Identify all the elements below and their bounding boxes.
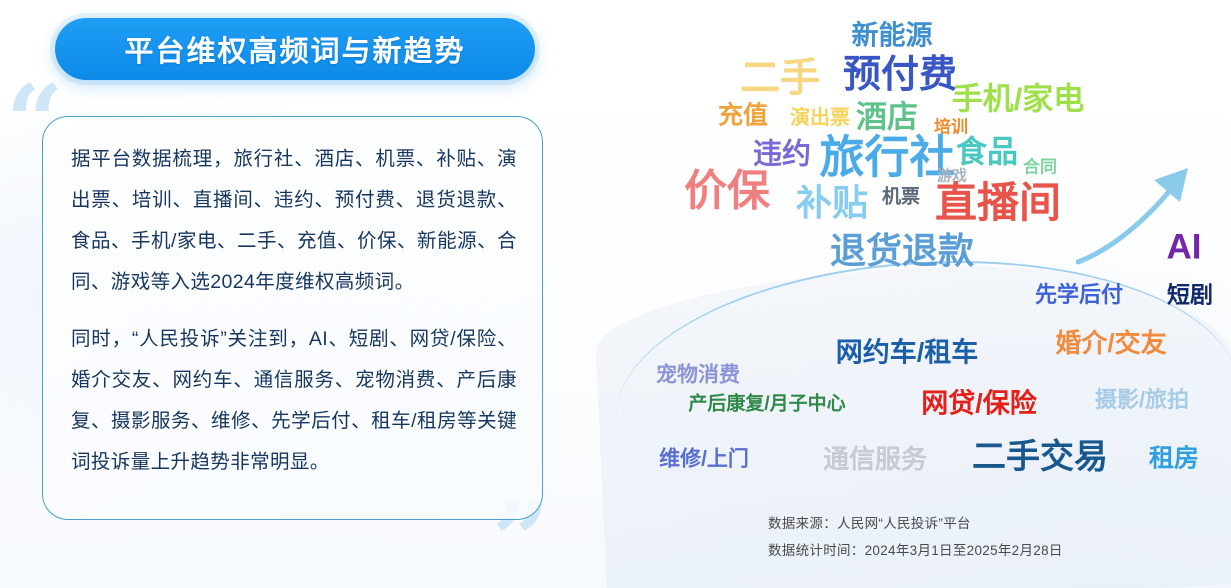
word-cloud-term: 直播间 xyxy=(935,182,1061,224)
footer-notes: 数据来源：人民网“人民投诉”平台 数据统计时间：2024年3月1日至2025年2… xyxy=(768,510,1188,564)
summary-paragraph-2: 同时，“人民投诉”关注到，AI、短剧、网贷/保险、婚介交友、网约车、通信服务、宠… xyxy=(71,319,517,483)
word-cloud-term: 补贴 xyxy=(796,185,868,221)
summary-paragraph-1: 据平台数据梳理，旅行社、酒店、机票、补贴、演出票、培训、直播间、违约、预付费、退… xyxy=(71,139,517,303)
word-cloud-term: 演出票 xyxy=(790,108,850,128)
word-cloud-term: 二手交易 xyxy=(972,440,1108,474)
word-cloud-term: 价保 xyxy=(684,171,770,214)
word-cloud-term: 网约车/租车 xyxy=(836,340,979,367)
word-cloud-term: 先学后付 xyxy=(1035,284,1123,306)
word-cloud-term: 短剧 xyxy=(1167,284,1213,307)
word-cloud-term: 网贷/保险 xyxy=(921,391,1037,418)
word-cloud: 新能源二手预付费手机/家电充值演出票酒店培训违约旅行社食品合同游戏价保补贴机票直… xyxy=(600,0,1231,588)
word-cloud-term: 违约 xyxy=(753,141,811,170)
word-cloud-term: 新能源 xyxy=(852,23,933,50)
word-cloud-term: 手机/家电 xyxy=(952,84,1085,115)
data-source-note: 数据来源：人民网“人民投诉”平台 xyxy=(768,510,1188,537)
left-panel: 平台维权高频词与新趋势 “ ” 据平台数据梳理，旅行社、酒店、机票、补贴、演出票… xyxy=(0,0,600,588)
word-cloud-term: 维修/上门 xyxy=(659,449,749,470)
word-cloud-term: 二手 xyxy=(740,58,820,98)
word-cloud-term: 摄影/旅拍 xyxy=(1095,389,1189,411)
word-cloud-term: AI xyxy=(1167,230,1202,265)
word-cloud-term: 机票 xyxy=(882,188,920,207)
page-title: 平台维权高频词与新趋势 xyxy=(124,28,465,70)
word-cloud-term: 充值 xyxy=(718,104,768,129)
word-cloud-term: 婚介/交友 xyxy=(1055,330,1166,356)
word-cloud-term: 宠物消费 xyxy=(656,365,740,386)
word-cloud-term: 预付费 xyxy=(843,56,957,94)
summary-card: 据平台数据梳理，旅行社、酒店、机票、补贴、演出票、培训、直播间、违约、预付费、退… xyxy=(42,116,543,520)
word-cloud-term: 食品 xyxy=(956,137,1018,168)
word-cloud-term: 酒店 xyxy=(856,102,918,133)
data-period-note: 数据统计时间：2024年3月1日至2025年2月28日 xyxy=(768,537,1188,564)
word-cloud-term: 租房 xyxy=(1149,447,1199,472)
word-cloud-term: 退货退款 xyxy=(830,233,974,269)
word-cloud-term: 通信服务 xyxy=(823,446,927,472)
word-cloud-term: 产后康复/月子中心 xyxy=(688,395,845,414)
page-title-pill: 平台维权高频词与新趋势 xyxy=(55,18,535,80)
word-cloud-term: 合同 xyxy=(1023,159,1057,176)
infographic-canvas: 平台维权高频词与新趋势 “ ” 据平台数据梳理，旅行社、酒店、机票、补贴、演出票… xyxy=(0,0,1231,588)
word-cloud-term: 旅行社 xyxy=(819,135,954,180)
